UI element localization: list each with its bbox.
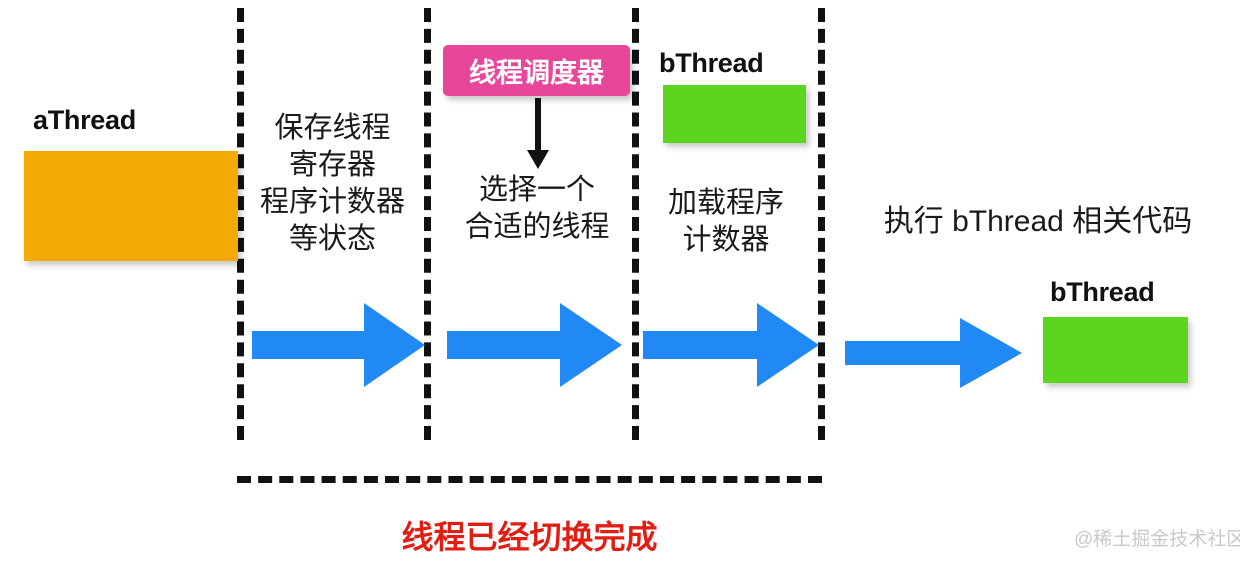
- divider-vertical-2: [424, 8, 431, 440]
- scheduler-box: 线程调度器: [443, 45, 630, 96]
- flow-arrow-2: [447, 303, 622, 387]
- scheduler-choose-text: 选择一个 合适的线程: [443, 172, 631, 246]
- save-context-line-4: 等状态: [250, 221, 415, 258]
- flow-arrow-4: [845, 318, 1022, 388]
- scheduler-choose-line-1: 选择一个: [443, 172, 631, 209]
- b-thread-block-top: [663, 85, 806, 143]
- b-thread-label-result: bThread: [1050, 277, 1154, 308]
- b-thread-block-result: [1043, 317, 1188, 383]
- watermark: @稀土掘金技术社区: [1074, 524, 1240, 551]
- scheduler-box-label: 线程调度器: [469, 51, 604, 90]
- load-pc-text: 加载程序 计数器: [640, 185, 812, 259]
- bottom-caption: 线程已经切换完成: [237, 512, 822, 558]
- flow-arrow-1: [252, 303, 425, 387]
- scheduler-down-arrow: [524, 98, 552, 170]
- a-thread-block: [24, 151, 238, 261]
- load-pc-line-2: 计数器: [640, 222, 812, 259]
- save-context-line-2: 寄存器: [250, 147, 415, 184]
- a-thread-label: aThread: [33, 105, 136, 136]
- scheduler-choose-line-2: 合适的线程: [443, 209, 631, 246]
- save-context-line-3: 程序计数器: [250, 184, 415, 221]
- execute-code-text: 执行 bThread 相关代码: [862, 203, 1214, 241]
- divider-vertical-4: [818, 8, 825, 440]
- divider-vertical-1: [237, 8, 244, 440]
- load-pc-line-1: 加载程序: [640, 185, 812, 222]
- save-context-text: 保存线程 寄存器 程序计数器 等状态: [250, 110, 415, 258]
- divider-horizontal-baseline: [237, 476, 822, 483]
- divider-vertical-3: [632, 8, 639, 440]
- thread-switch-diagram: aThread 保存线程 寄存器 程序计数器 等状态 线程调度器 选择一个 合适…: [0, 0, 1240, 564]
- flow-arrow-3: [643, 303, 819, 387]
- save-context-line-1: 保存线程: [250, 110, 415, 147]
- b-thread-label-top: bThread: [659, 48, 763, 79]
